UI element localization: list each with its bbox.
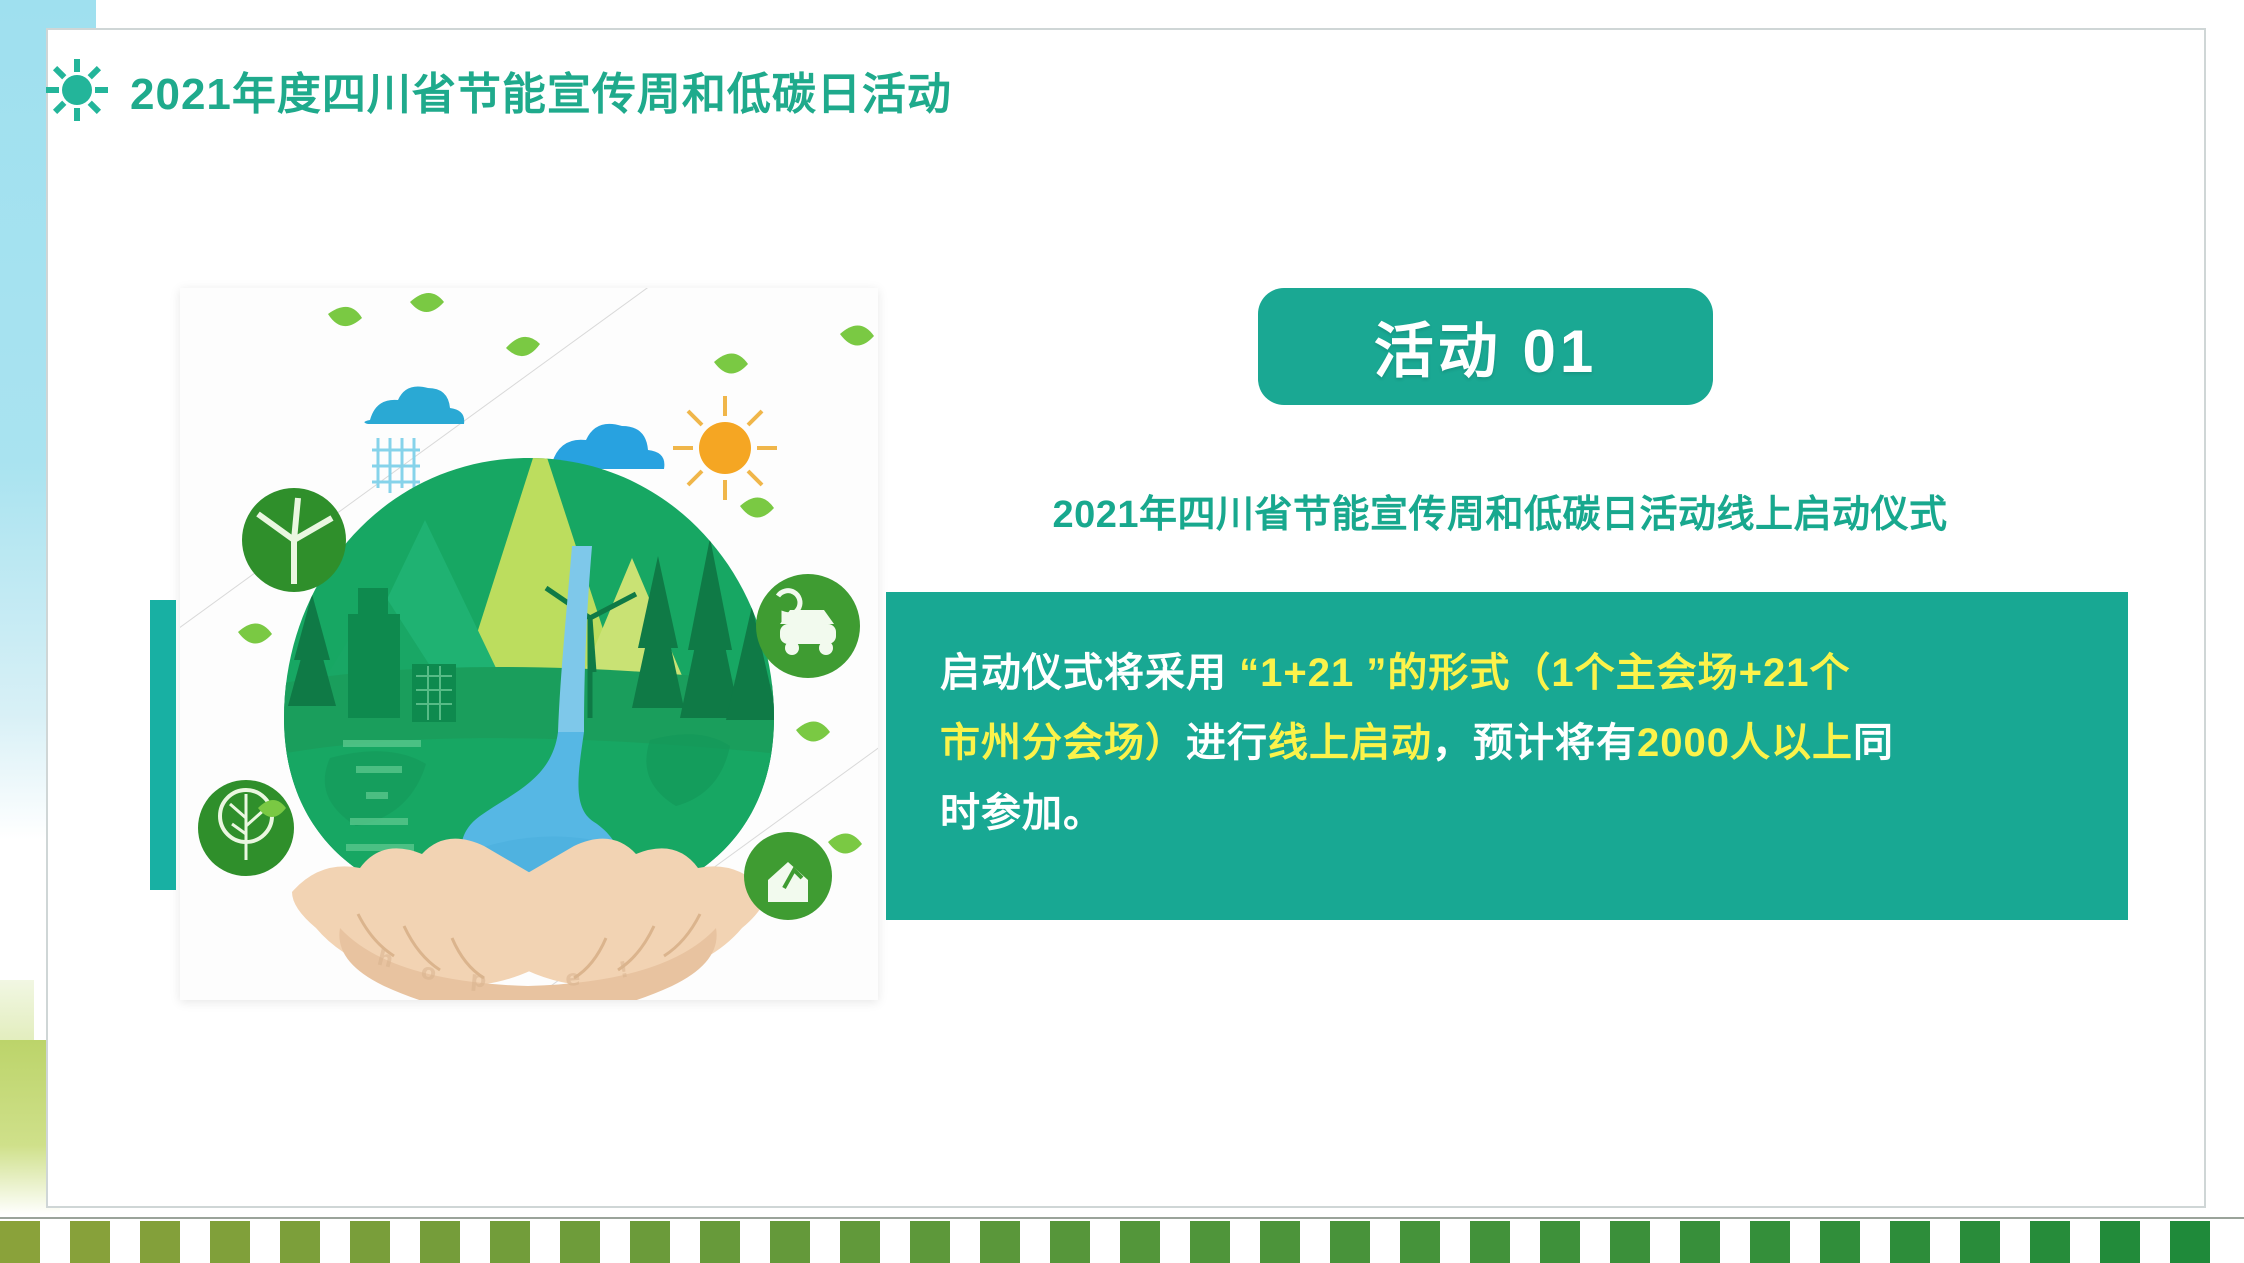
footer-dashed-stripe	[0, 1217, 2244, 1263]
footer-dash	[490, 1221, 530, 1263]
footer-dash	[1400, 1221, 1440, 1263]
body-line-3: 时参加。	[940, 778, 2074, 848]
activity-badge-label: 活动 01	[1374, 303, 1597, 390]
footer-dash	[2030, 1221, 2070, 1263]
footer-dash	[1750, 1221, 1790, 1263]
footer-dash	[840, 1221, 880, 1263]
footer-dash	[1960, 1221, 2000, 1263]
body-text-segment: ，预计将有	[1432, 721, 1637, 765]
body-text-segment: 线上启动	[1268, 721, 1432, 765]
body-text-segment: 市州分会场）	[940, 721, 1186, 765]
footer-dash	[1260, 1221, 1300, 1263]
footer-dash	[2170, 1221, 2210, 1263]
body-text-segment: 的形式（1个主会场+21个	[1387, 651, 1850, 695]
footer-dash	[770, 1221, 810, 1263]
footer-dash	[1330, 1221, 1370, 1263]
body-text-segment: 同	[1853, 721, 1894, 765]
svg-text:e: e	[564, 966, 581, 992]
body-text-segment: 启动仪式将采用	[940, 651, 1239, 695]
footer-dash	[2100, 1221, 2140, 1263]
footer-dash	[1820, 1221, 1860, 1263]
header: 2021年度四川省节能宣传周和低碳日活动	[46, 58, 952, 122]
footer-dash	[1890, 1221, 1930, 1263]
footer-dash	[1190, 1221, 1230, 1263]
footer-dash	[1540, 1221, 1580, 1263]
teal-accent-bar	[150, 600, 176, 890]
footer-dash	[1610, 1221, 1650, 1263]
body-line-1: 启动仪式将采用 “1+21 ”的形式（1个主会场+21个	[940, 638, 2074, 708]
footer-dash	[1050, 1221, 1090, 1263]
body-text-segment: “1+21 ”	[1239, 651, 1387, 695]
footer-dash	[280, 1221, 320, 1263]
section-subtitle: 2021年四川省节能宣传周和低碳日活动线上启动仪式	[920, 483, 2080, 538]
footer-dash	[350, 1221, 390, 1263]
footer-dash	[980, 1221, 1020, 1263]
body-text-segment: 进行	[1186, 721, 1268, 765]
body-text-segment: 2000人以上	[1637, 721, 1853, 765]
footer-dash	[700, 1221, 740, 1263]
page-title: 2021年度四川省节能宣传周和低碳日活动	[130, 58, 952, 122]
svg-text:p: p	[469, 967, 487, 993]
footer-dash	[560, 1221, 600, 1263]
body-line-2: 市州分会场）进行线上启动，预计将有2000人以上同	[940, 708, 2074, 778]
footer-dash	[1470, 1221, 1510, 1263]
footer-dash	[140, 1221, 180, 1263]
slide-root: 2021年度四川省节能宣传周和低碳日活动	[0, 0, 2244, 1263]
footer-dash	[210, 1221, 250, 1263]
activity-badge: 活动 01	[1258, 288, 1713, 405]
footer-dash	[910, 1221, 950, 1263]
footer-dash	[630, 1221, 670, 1263]
footer-dash	[1680, 1221, 1720, 1263]
body-text-panel: 启动仪式将采用 “1+21 ”的形式（1个主会场+21个 市州分会场）进行线上启…	[886, 592, 2128, 920]
footer-dash	[1120, 1221, 1160, 1263]
body-text-segment: 时参加。	[940, 791, 1104, 835]
footer-dash	[70, 1221, 110, 1263]
footer-dash	[420, 1221, 460, 1263]
eco-earth-in-hands-illustration: h o p e !	[180, 288, 878, 1000]
sun-icon	[46, 59, 108, 121]
footer-dash	[0, 1221, 40, 1263]
